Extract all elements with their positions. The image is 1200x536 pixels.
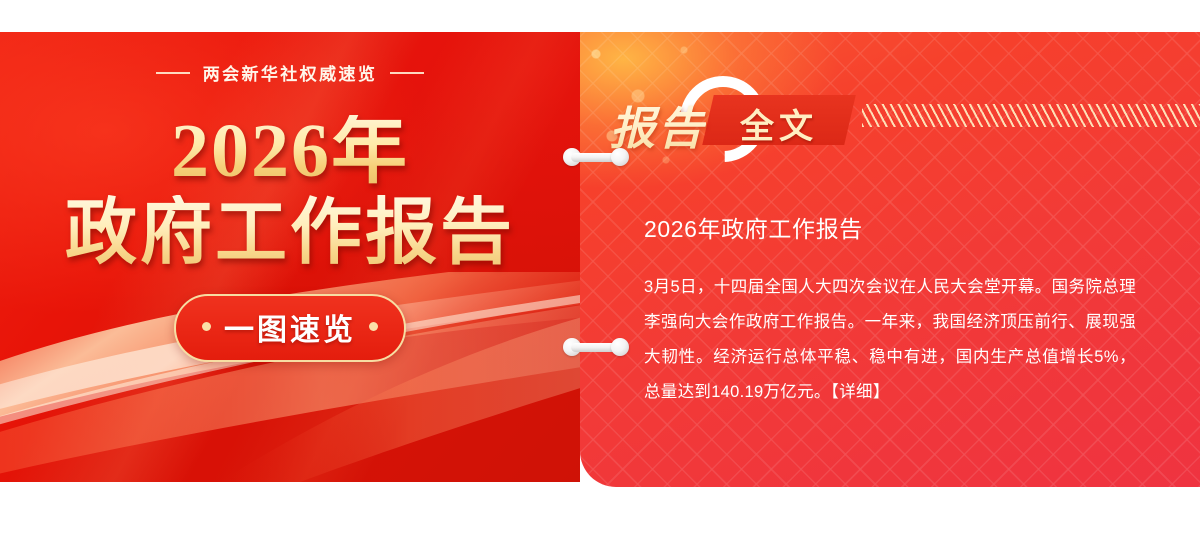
quick-view-badge[interactable]: 一图速览 [174, 294, 406, 362]
kicker-rule-left [156, 72, 190, 74]
poster-kicker: 两会新华社权威速览 [156, 60, 425, 85]
binder-ring-top [563, 148, 629, 166]
binder-ring-bottom [563, 338, 629, 356]
report-panel: 报告 全文 2026年政府工作报告 3月5日，十四届全国人大四次会议在人民大会堂… [580, 32, 1200, 487]
report-title: 2026年政府工作报告 [644, 210, 1136, 244]
badge-dot-left-icon [202, 322, 211, 331]
report-paragraph[interactable]: 3月5日，十四届全国人大四次会议在人民大会堂开幕。国务院总理李强向大会作政府工作… [644, 270, 1136, 410]
report-body: 2026年政府工作报告 3月5日，十四届全国人大四次会议在人民大会堂开幕。国务院… [644, 210, 1136, 410]
quick-view-badge-label: 一图速览 [224, 305, 356, 349]
poster-title-main: 政府工作报告 [65, 195, 515, 271]
binder-knob-right-icon [611, 148, 629, 166]
fulltext-banner-label: 全文 [724, 99, 834, 148]
badge-dot-right-icon [369, 322, 378, 331]
kicker-rule-right [390, 72, 424, 74]
poster-title-year: 2026年 [171, 115, 409, 187]
report-header: 报告 全文 [580, 80, 1200, 158]
binder-knob-right-icon [611, 338, 629, 356]
poster-panel: 两会新华社权威速览 2026年 政府工作报告 一图速览 [0, 32, 580, 482]
poster-kicker-text: 两会新华社权威速览 [203, 60, 378, 85]
hatch-stripes-decoration [862, 104, 1200, 127]
